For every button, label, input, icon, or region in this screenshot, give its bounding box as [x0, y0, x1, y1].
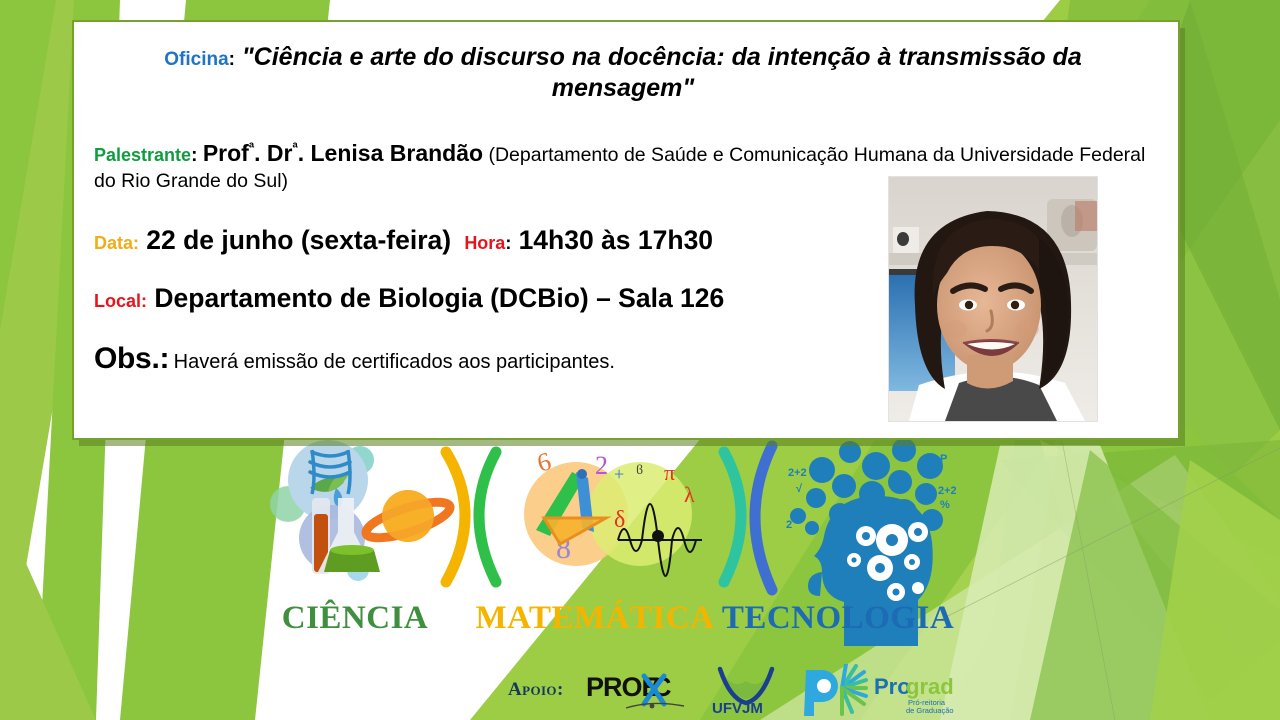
math-compass-graph-icon: 6 2 + × δ 8 π λ ϐ — [479, 446, 741, 582]
hora-colon: : — [505, 233, 511, 253]
svg-text:grad: grad — [906, 674, 954, 699]
stem-label-matematica: MATEMÁTICA — [470, 600, 720, 637]
svg-text:2+2: 2+2 — [788, 467, 807, 479]
oficina-label: Oficina — [164, 49, 228, 70]
workshop-title-line: Oficina: "Ciência e arte do discurso na … — [98, 42, 1148, 104]
svg-text:UFVJM: UFVJM — [712, 700, 763, 715]
svg-text:P: P — [940, 453, 947, 465]
time-value: 14h30 às 17h30 — [519, 225, 713, 255]
stem-label-ciencia: CIÊNCIA — [240, 600, 470, 637]
slide-canvas: Oficina: "Ciência e arte do discurso na … — [0, 0, 1280, 720]
proexc-logo: PROE C — [586, 668, 696, 712]
prograd-logo: Pro grad Pró-reitoria de Graduação — [796, 664, 971, 716]
palestrante-label: Palestrante — [94, 145, 191, 165]
svg-text:2: 2 — [595, 451, 608, 480]
apoio-label: Apoio: — [508, 679, 564, 701]
speaker-name: Profª. Drª. Lenisa Brandão — [203, 140, 483, 166]
announcement-card: Oficina: "Ciência e arte do discurso na … — [72, 20, 1180, 440]
speaker-name-prefix: Prof — [203, 140, 249, 166]
date-value: 22 de junho (sexta-feira) — [146, 225, 451, 255]
speaker-photo — [888, 176, 1098, 422]
science-flasks-dna-planet-icon — [270, 440, 465, 582]
place-value: Departamento de Biologia (DCBio) – Sala … — [154, 283, 724, 313]
palestrante-colon: : — [191, 145, 197, 166]
svg-text:+: + — [614, 464, 624, 484]
svg-text:6: 6 — [534, 446, 554, 477]
speaker-photo-image — [889, 177, 1097, 421]
local-label: Local: — [94, 291, 147, 311]
hora-label: Hora — [464, 233, 505, 253]
svg-text:2: 2 — [786, 519, 792, 531]
workshop-title: "Ciência e arte do discurso na docência:… — [242, 43, 1082, 102]
svg-text:%: % — [940, 499, 950, 511]
stem-labels: CIÊNCIA MATEMÁTICA TECNOLOGIA — [240, 600, 956, 646]
oficina-colon: : — [229, 49, 235, 70]
svg-text:2+2: 2+2 — [938, 485, 956, 497]
svg-text:√: √ — [796, 483, 803, 495]
speaker-name-mid: . Dr — [254, 140, 292, 166]
data-label: Data: — [94, 233, 139, 253]
svg-text:ϐ: ϐ — [636, 463, 643, 478]
ufvjm-logo: UFVJM — [710, 665, 782, 715]
support-logos-row: Apoio: PROE C UFVJM — [508, 662, 971, 718]
obs-label: Obs.: — [94, 342, 169, 375]
stem-label-tecnologia: TECNOLOGIA — [720, 600, 956, 637]
svg-text:λ: λ — [684, 482, 695, 507]
svg-text:de Graduação: de Graduação — [906, 706, 954, 715]
obs-text: Haverá emissão de certificados aos parti… — [174, 351, 615, 373]
speaker-name-rest: . Lenisa Brandão — [298, 140, 483, 166]
svg-text:π: π — [664, 460, 675, 485]
